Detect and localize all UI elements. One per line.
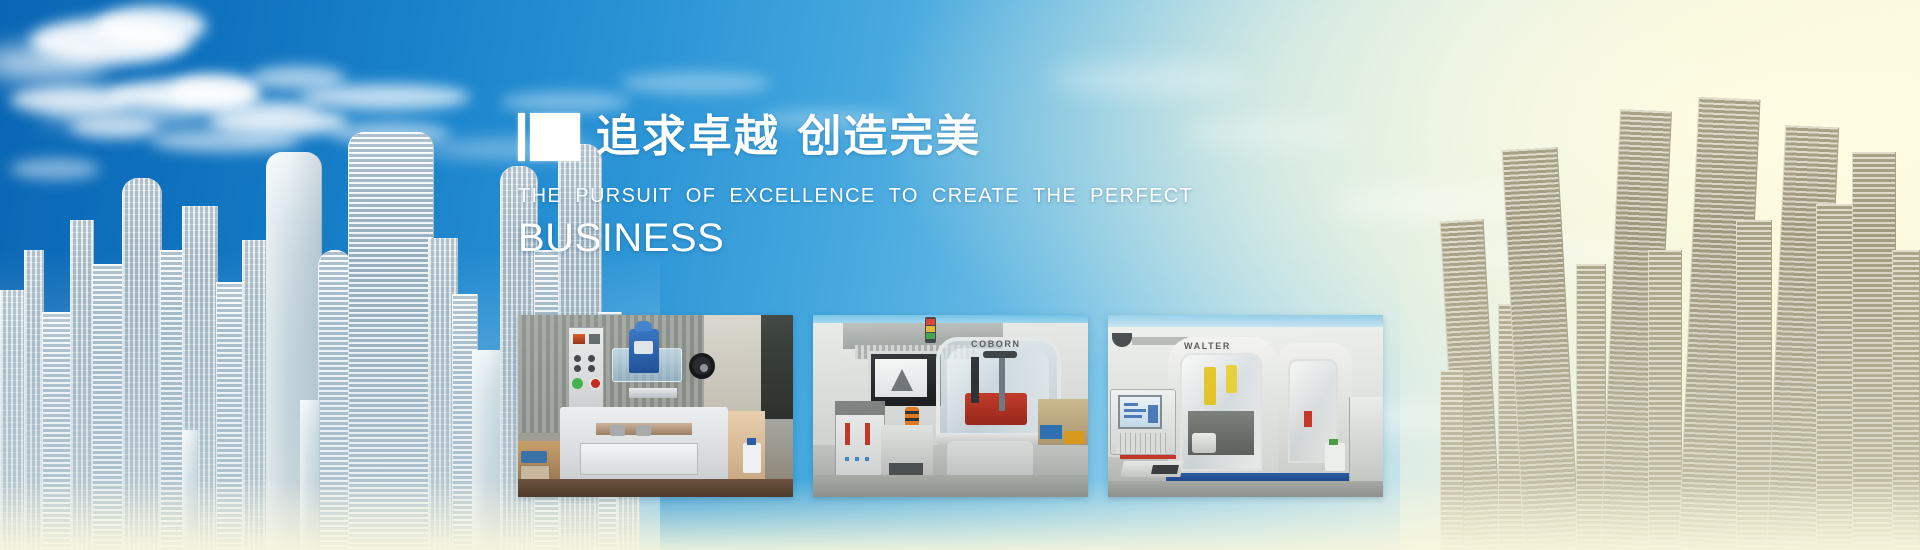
blue-bin xyxy=(1040,425,1062,439)
subtitle-word: TO xyxy=(889,184,919,208)
cloud xyxy=(150,130,300,152)
building xyxy=(1648,250,1682,550)
yellow-bin xyxy=(1064,431,1084,444)
headline-subtitle: THEPURSUITOFEXCELLENCETOCREATETHEPERFECT xyxy=(518,184,1418,208)
photo-walter-machine[interactable]: WALTER xyxy=(1108,315,1383,497)
building xyxy=(1892,250,1920,550)
photo-caption-coborn: COBORN xyxy=(971,339,1021,349)
building xyxy=(0,290,26,550)
cloud xyxy=(330,122,450,144)
green-start-button xyxy=(572,378,583,389)
right-skyline-haze xyxy=(1400,230,1920,550)
cloud xyxy=(170,74,260,108)
right-city-skyline xyxy=(1440,80,1920,550)
cabinet-gauge xyxy=(865,423,870,445)
cloud xyxy=(620,72,770,94)
screen-graphic xyxy=(891,369,913,391)
emergency-stop-button xyxy=(589,377,602,390)
panel-knob xyxy=(588,365,595,372)
logo-square-icon xyxy=(530,113,580,161)
panel-display xyxy=(573,334,585,344)
logo-bar-icon xyxy=(518,113,525,161)
cloud xyxy=(1600,432,1770,454)
keyboard-touchpad xyxy=(1151,465,1179,474)
panel-display-secondary xyxy=(589,334,600,344)
spindle-cap xyxy=(635,321,652,331)
building-tower-tall xyxy=(1600,109,1672,550)
cloud xyxy=(96,6,206,46)
cloud xyxy=(300,84,470,110)
building xyxy=(472,350,506,550)
tooling-column xyxy=(999,355,1005,411)
work-pot xyxy=(610,425,625,436)
building xyxy=(1766,125,1839,550)
base-access-panel xyxy=(580,443,698,475)
workshop-floor xyxy=(813,475,1088,497)
workpiece-spool xyxy=(1192,433,1216,453)
yellow-guard xyxy=(1226,365,1237,393)
building xyxy=(1736,220,1772,550)
subtitle-word: CREATE xyxy=(932,184,1020,208)
cloud xyxy=(0,46,110,80)
panel-knob xyxy=(574,355,581,362)
machine-photo-strip: COBORN xyxy=(518,315,1383,497)
cloud xyxy=(250,66,346,90)
panel-knob xyxy=(574,365,581,372)
building xyxy=(160,250,186,550)
title-row: 追求卓越 创造完美 xyxy=(518,108,1418,166)
coolant-jug xyxy=(1325,443,1345,471)
cloud xyxy=(210,100,320,120)
building xyxy=(42,312,72,550)
building xyxy=(1440,219,1502,550)
building-tower-tall xyxy=(1678,97,1760,550)
cabinet-top xyxy=(835,401,885,415)
building xyxy=(182,206,218,550)
cabinet-led xyxy=(845,457,849,461)
cabinet-led xyxy=(865,457,869,461)
building xyxy=(1498,304,1532,550)
building xyxy=(92,264,126,550)
subtitle-word: PURSUIT xyxy=(575,184,673,208)
headline-block: 追求卓越 创造完美 THEPURSUITOFEXCELLENCETOCREATE… xyxy=(518,108,1418,262)
cloud xyxy=(10,86,130,114)
blue-crate xyxy=(521,451,547,463)
workshop-floor xyxy=(518,479,793,497)
cloud xyxy=(1460,240,1660,266)
cloud xyxy=(10,158,100,180)
cabinet-gauge xyxy=(845,423,850,445)
handwheel-icon xyxy=(689,353,715,379)
photo-cnc-surface-grinder[interactable] xyxy=(518,315,793,497)
building xyxy=(1576,264,1606,550)
building xyxy=(182,430,198,550)
cloud xyxy=(40,100,220,126)
building xyxy=(428,238,458,550)
logo-bar-square-mark-icon xyxy=(518,113,580,161)
company-hero-banner: 追求卓越 创造完美 THEPURSUITOFEXCELLENCETOCREATE… xyxy=(0,0,1920,550)
spindle-label-plate xyxy=(634,341,653,354)
building xyxy=(1816,204,1856,550)
stack-light-tower xyxy=(925,317,936,343)
cabinet-led xyxy=(855,457,859,461)
building xyxy=(122,178,162,550)
subtitle-word: OF xyxy=(686,184,717,208)
subtitle-word: EXCELLENCE xyxy=(729,184,875,208)
console-screen xyxy=(1118,395,1162,429)
console-keypad xyxy=(1116,433,1166,453)
cloud xyxy=(108,80,258,110)
work-pot xyxy=(636,425,651,436)
building-tower-main xyxy=(348,132,434,550)
cloud xyxy=(70,116,160,138)
yellow-guard xyxy=(1204,367,1216,405)
building xyxy=(452,294,478,550)
building xyxy=(1852,152,1896,550)
grinding-table xyxy=(629,388,677,398)
subtitle-word: PERFECT xyxy=(1090,184,1193,208)
workshop-floor xyxy=(1108,481,1383,497)
photo-coborn-machine[interactable]: COBORN xyxy=(813,315,1088,497)
subtitle-word: THE xyxy=(1033,184,1077,208)
console-button-row xyxy=(1120,455,1176,459)
cloud xyxy=(30,18,190,64)
cloud xyxy=(1050,64,1250,94)
electrical-cabinet xyxy=(1349,397,1383,481)
spindle-assembly xyxy=(983,351,1017,358)
building xyxy=(24,250,44,550)
building xyxy=(242,240,270,550)
building xyxy=(318,250,352,550)
building xyxy=(300,400,320,550)
indicator-strip xyxy=(1304,411,1312,427)
building xyxy=(216,282,246,550)
tooling-arm xyxy=(971,357,979,403)
dark-curtain xyxy=(761,315,793,419)
building xyxy=(1502,147,1580,550)
building xyxy=(70,220,94,550)
coolant-jug xyxy=(743,443,761,473)
headline-title-cn: 追求卓越 创造完美 xyxy=(596,111,981,163)
building xyxy=(1440,370,1464,550)
cloud xyxy=(208,108,348,136)
headline-business-label: BUSINESS xyxy=(518,214,1418,262)
panel-knob xyxy=(588,355,595,362)
building xyxy=(266,152,322,550)
photo-caption-walter: WALTER xyxy=(1184,341,1231,351)
subtitle-word: THE xyxy=(518,184,562,208)
